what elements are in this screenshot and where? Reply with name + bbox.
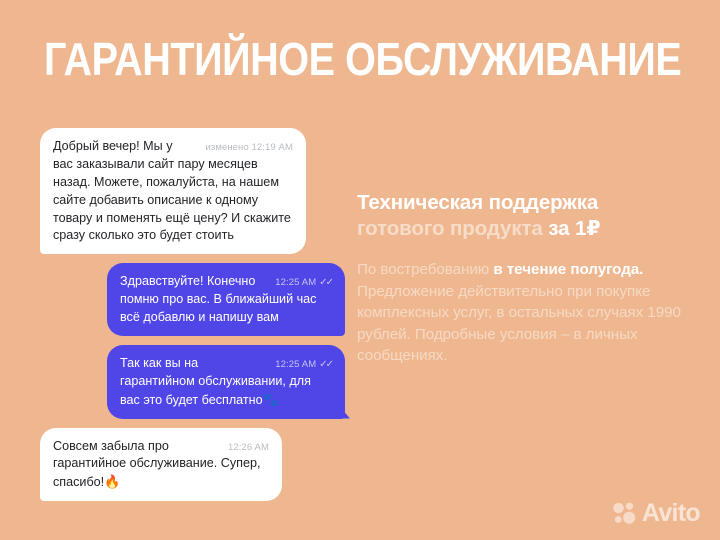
page-title: ГАРАНТИЙНОЕ ОБСЛУЖИВАНИЕ [44,36,594,82]
chat-bubble-incoming: изменено 12:19 AM Добрый вечер! Мы у вас… [40,128,306,254]
read-receipt-icon: ✓✓ [319,359,332,370]
offer-description-rest: Предложение действительно при покупке ко… [357,283,681,365]
message-text: Добрый вечер! Мы у вас заказывали сайт п… [53,139,291,242]
chat-message-row: 12:25 AM✓✓ Здравствуйте! Конечно помню п… [40,263,345,345]
offer-heading-line1: Техническая поддержка [357,191,598,214]
avito-mark-icon [612,500,638,526]
offer-heading-line2: готового продукта [357,217,548,240]
chat-bubble-outgoing: 12:25 AM✓✓ Здравствуйте! Конечно помню п… [107,263,345,336]
bubble-tail [338,405,350,419]
chat-message-row: 12:26 AM Совсем забыла про гарантийное о… [40,428,345,511]
message-meta: 12:25 AM✓✓ [275,276,332,290]
read-receipt-icon: ✓✓ [319,277,332,288]
chat-thread: изменено 12:19 AM Добрый вечер! Мы у вас… [40,128,345,510]
message-time: 12:25 AM [275,359,316,370]
avito-wordmark: Avito [642,501,700,526]
message-emoji-icon: 🐾 [263,392,279,407]
offer-price-label: за 1 [548,217,586,240]
message-emoji-icon: 🔥 [104,474,120,489]
chat-bubble-outgoing: 12:25 AM✓✓ Так как вы на гарантийном обс… [107,345,345,419]
chat-message-row: изменено 12:19 AM Добрый вечер! Мы у вас… [40,128,345,263]
offer-description: По востребованию в течение полугода. Пре… [357,259,687,367]
message-meta: 12:26 AM [228,441,269,454]
offer-description-lead: По востребованию [357,261,493,278]
offer-heading: Техническая поддержка готового продукта … [357,190,687,242]
chat-bubble-incoming: 12:26 AM Совсем забыла про гарантийное о… [40,428,282,502]
message-meta: изменено 12:19 AM [205,141,293,154]
chat-message-row: 12:25 AM✓✓ Так как вы на гарантийном обс… [40,345,345,428]
ruble-currency-icon: ₽ [586,217,598,240]
offer-panel: Техническая поддержка готового продукта … [357,190,687,367]
message-meta: 12:25 AM✓✓ [275,358,332,372]
avito-logo: Avito [612,500,700,526]
message-time: 12:25 AM [275,277,316,288]
offer-description-emphasis: в течение полугода. [493,261,643,278]
